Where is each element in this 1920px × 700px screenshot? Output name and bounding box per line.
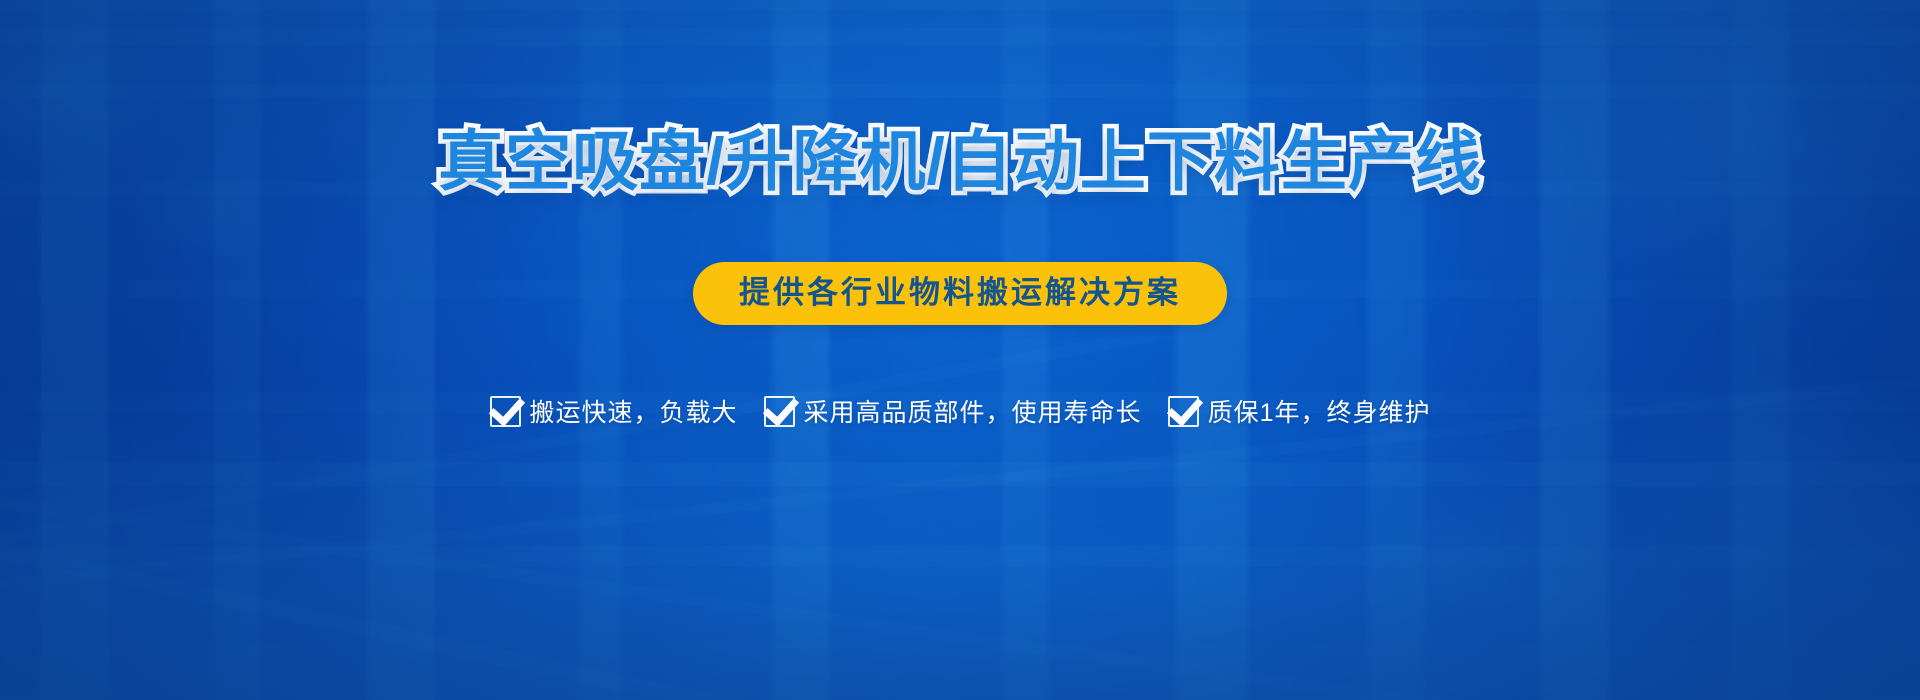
hero-banner: 真空吸盘/升降机/自动上下料生产线 提供各行业物料搬运解决方案 搬运快速，负载大… <box>0 0 1920 700</box>
banner-headline: 真空吸盘/升降机/自动上下料生产线 <box>438 128 1482 194</box>
banner-subtitle-badge: 提供各行业物料搬运解决方案 <box>693 262 1227 325</box>
check-icon <box>490 396 521 427</box>
feature-label: 质保1年，终身维护 <box>1208 393 1431 429</box>
feature-item: 搬运快速，负载大 <box>490 393 738 429</box>
feature-label: 搬运快速，负载大 <box>530 393 738 429</box>
feature-item: 采用高品质部件，使用寿命长 <box>764 393 1142 429</box>
feature-item: 质保1年，终身维护 <box>1168 393 1431 429</box>
banner-content: 真空吸盘/升降机/自动上下料生产线 提供各行业物料搬运解决方案 搬运快速，负载大… <box>0 0 1920 700</box>
feature-list: 搬运快速，负载大 采用高品质部件，使用寿命长 质保1年，终身维护 <box>490 393 1431 429</box>
feature-label: 采用高品质部件，使用寿命长 <box>804 393 1142 429</box>
check-icon <box>764 396 795 427</box>
check-icon <box>1168 396 1199 427</box>
